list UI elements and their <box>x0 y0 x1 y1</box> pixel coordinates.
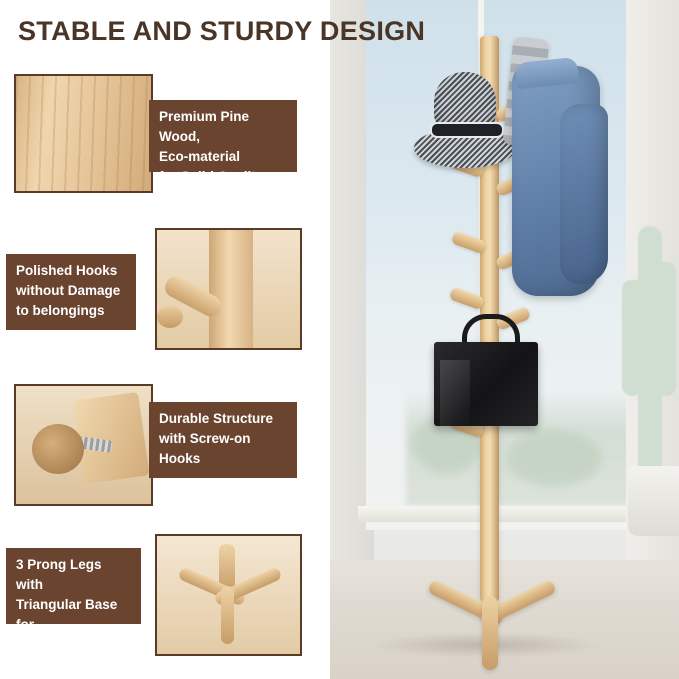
screw-on-hook-closeup <box>16 386 151 504</box>
callout-line: Triangular Base for <box>16 595 131 635</box>
coat-rack-room-scene <box>330 0 679 679</box>
callout-line: Eco-material <box>159 147 287 167</box>
window-bush <box>506 430 602 486</box>
callout-line: Polished Hooks <box>16 261 126 281</box>
denim-jacket <box>498 56 616 306</box>
feature-image-premium-pine-wood <box>14 74 153 193</box>
callout-line: for Solid Quality <box>159 167 287 187</box>
callout-line: Extra Stability <box>16 635 131 655</box>
callout-line: 3 Prong Legs with <box>16 555 131 595</box>
coat-rack-leg <box>482 596 498 670</box>
black-leather-handbag <box>434 330 538 426</box>
plant-pot <box>628 466 679 536</box>
cactus-plant <box>622 196 678 496</box>
feature-callout-polished-hooks: Polished Hooks without Damage to belongi… <box>6 254 136 330</box>
feature-callout-premium-pine-wood: Premium Pine Wood, Eco-material for Soli… <box>149 100 297 172</box>
tripod-legs-closeup <box>157 536 300 654</box>
feature-callout-three-prong-legs: 3 Prong Legs with Triangular Base for Ex… <box>6 548 141 624</box>
feature-callout-durable-structure: Durable Structure with Screw-on Hooks <box>149 402 297 478</box>
floor <box>330 560 679 679</box>
callout-line: Durable Structure <box>159 409 287 429</box>
product-feature-infographic: STABLE AND STURDY DESIGN Premium Pine Wo… <box>0 0 679 679</box>
callout-line: without Damage <box>16 281 126 301</box>
feature-image-polished-hooks <box>155 228 302 350</box>
wood-grain-closeup <box>16 76 151 191</box>
feature-image-three-prong-legs <box>155 534 302 656</box>
page-title: STABLE AND STURDY DESIGN <box>18 16 425 47</box>
callout-line: Premium Pine Wood, <box>159 107 287 147</box>
callout-line: with Screw-on <box>159 429 287 449</box>
feature-image-durable-structure <box>14 384 153 506</box>
hook-joint-closeup <box>157 230 300 348</box>
window-sill <box>358 506 642 522</box>
callout-line: Hooks <box>159 449 287 469</box>
callout-line: to belongings <box>16 301 126 321</box>
